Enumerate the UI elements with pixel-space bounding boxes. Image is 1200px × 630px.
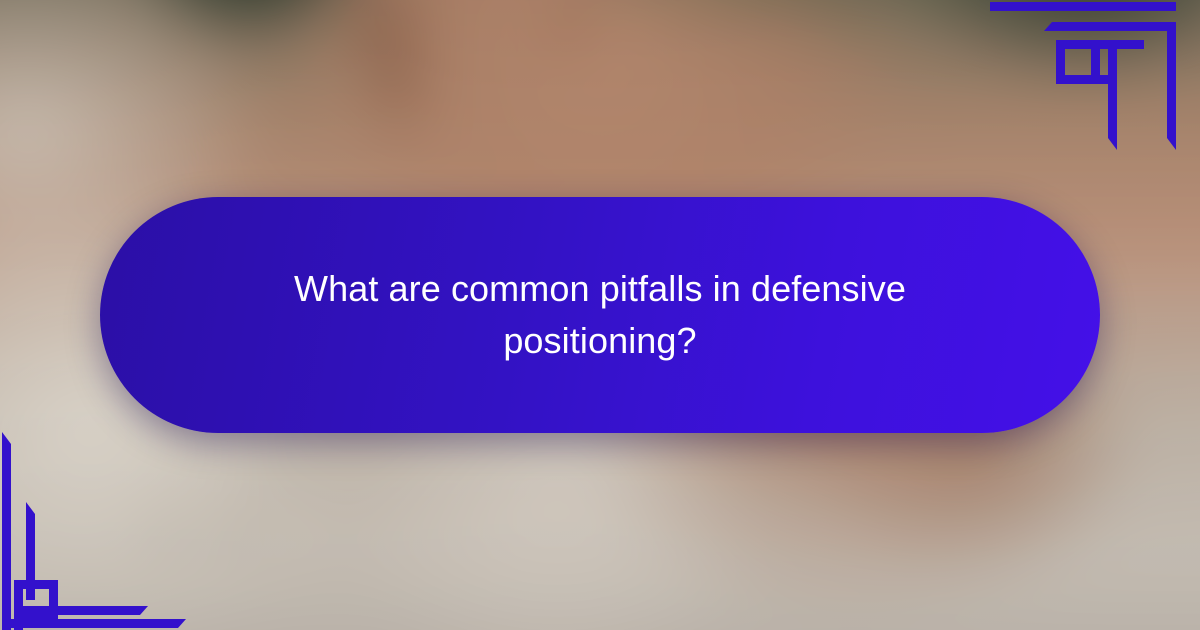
slide-canvas: What are common pitfalls in defensive po… [0,0,1200,630]
question-card[interactable]: What are common pitfalls in defensive po… [100,197,1100,433]
question-text: What are common pitfalls in defensive po… [250,263,950,367]
